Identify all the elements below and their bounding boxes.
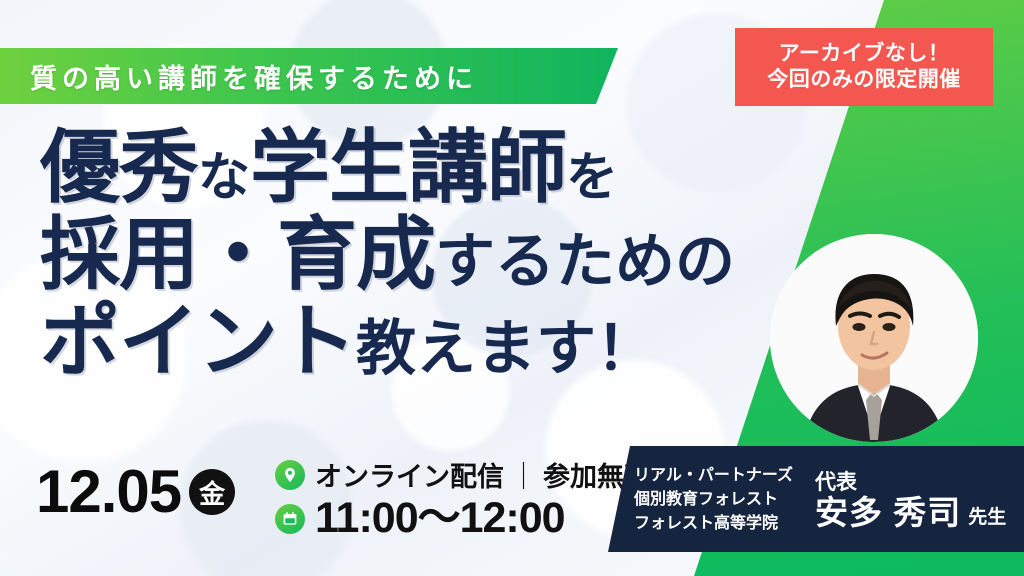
headline-l1-part1: 優秀	[40, 123, 198, 212]
speaker-name: 安多 秀司	[815, 496, 961, 529]
map-pin-icon	[275, 460, 305, 490]
speaker-photo	[770, 234, 978, 442]
speaker-role: 代表	[815, 471, 1006, 495]
event-format-row: オンライン配信｜参加無料	[275, 455, 651, 494]
event-weekday-badge: 金	[189, 469, 235, 515]
headline-line-1: 優秀な学生講師を	[40, 128, 780, 208]
org-line-3: フォレスト高等学院	[634, 512, 793, 536]
speaker-name-row: 安多 秀司 先生	[815, 496, 1006, 529]
headline-l2-part1: 採用・育成	[40, 210, 435, 299]
event-time: 11:00〜12:00	[315, 496, 565, 541]
limited-offer-badge: アーカイブなし！ 今回のみの限定開催	[735, 28, 993, 106]
eyebrow-ribbon: 質の高い講師を確保するために	[0, 48, 618, 104]
org-line-2: 個別教育フォレスト	[634, 488, 793, 512]
seminar-banner: 質の高い講師を確保するために アーカイブなし！ 今回のみの限定開催 優秀な学生講…	[0, 0, 1024, 576]
headline-line-3: ポイント教えます！	[40, 302, 780, 382]
badge-line-2: 今回のみの限定開催	[767, 68, 961, 92]
event-format: オンライン配信	[315, 462, 504, 492]
speaker-identity: 代表 安多 秀司 先生	[815, 471, 1006, 529]
headline-line-2: 採用・育成するための	[40, 215, 780, 295]
event-date: 12.05	[36, 462, 181, 522]
headline-l3-kana: 教えます！	[356, 315, 656, 382]
speaker-name-suffix: 先生	[968, 508, 1006, 529]
speaker-organizations: リアル・パートナーズ 個別教育フォレスト フォレスト高等学院	[630, 464, 793, 535]
org-line-1: リアル・パートナーズ	[634, 464, 793, 488]
info-separator: ｜	[504, 462, 543, 492]
headline-l1-kana2: を	[566, 149, 618, 207]
badge-line-1: アーカイブなし！	[779, 42, 950, 66]
headline-block: 優秀な学生講師を 採用・育成するための ポイント教えます！	[40, 128, 780, 389]
calendar-icon	[275, 504, 305, 534]
headline-l2-kana: するための	[435, 228, 735, 295]
headline-l1-part2: 学生講師	[250, 123, 566, 212]
event-date-block: 12.05 金	[36, 462, 235, 522]
speaker-bar-content: リアル・パートナーズ 個別教育フォレスト フォレスト高等学院 代表 安多 秀司 …	[630, 452, 1024, 548]
event-format-text: オンライン配信｜参加無料	[315, 455, 651, 494]
eyebrow-text: 質の高い講師を確保するために	[0, 57, 478, 96]
headline-l1-kana1: な	[198, 149, 250, 207]
headline-l3-part1: ポイント	[40, 297, 356, 386]
event-info-block: オンライン配信｜参加無料 11:00〜12:00	[275, 455, 651, 543]
event-time-row: 11:00〜12:00	[275, 496, 651, 541]
